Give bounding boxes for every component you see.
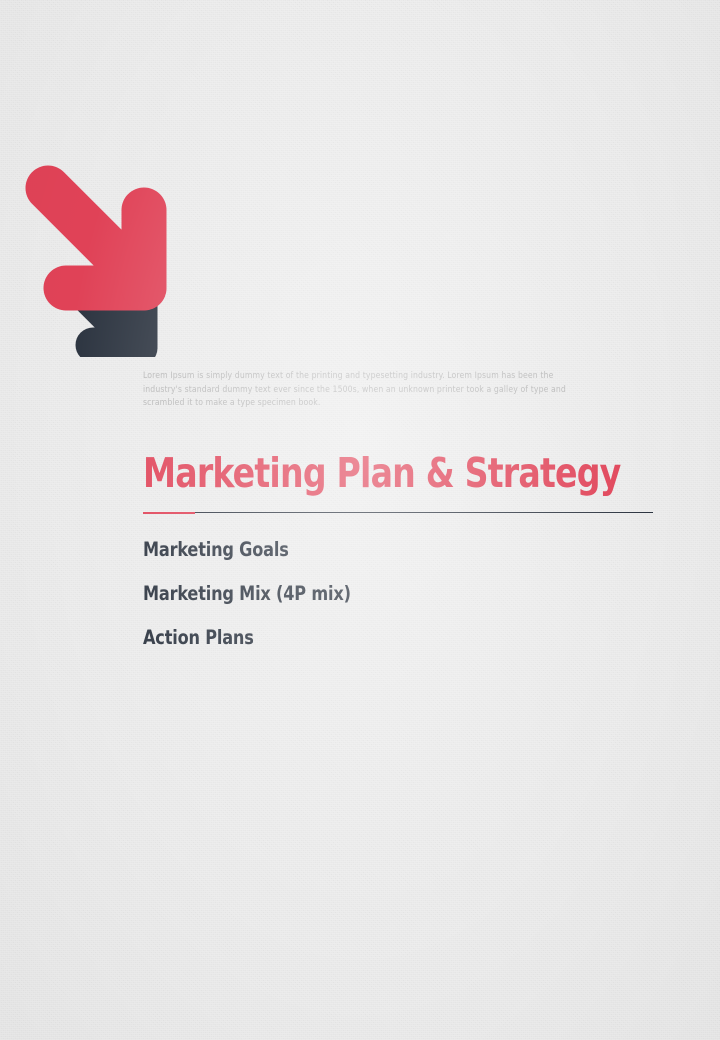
divider-dark-line: [143, 512, 653, 514]
intro-paragraph: Lorem Ipsum is simply dummy text of the …: [143, 370, 588, 411]
content-column: Lorem Ipsum is simply dummy text of the …: [143, 370, 655, 648]
divider-accent-segment: [143, 512, 195, 514]
section-divider: [143, 512, 653, 514]
page-title: Marketing Plan & Strategy: [143, 451, 604, 495]
arrow-primary-red: [48, 188, 144, 288]
list-item[interactable]: Action Plans: [143, 628, 614, 648]
list-item[interactable]: Marketing Goals: [143, 540, 614, 560]
topic-list: Marketing Goals Marketing Mix (4P mix) A…: [143, 540, 655, 648]
double-arrow-down-right-icon: [18, 162, 203, 357]
list-item[interactable]: Marketing Mix (4P mix): [143, 584, 614, 604]
